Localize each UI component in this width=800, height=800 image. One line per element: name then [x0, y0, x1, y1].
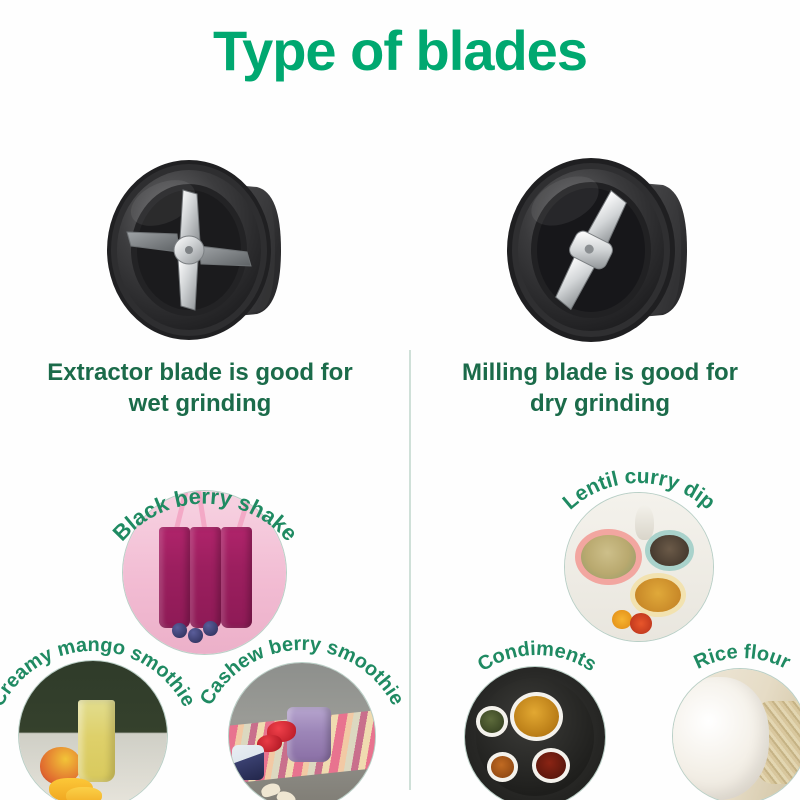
condiments-photo	[464, 666, 606, 800]
page-title: Type of blades	[0, 18, 800, 83]
milling-blade-image	[400, 150, 800, 350]
food-item-black-berry-shake[interactable]: Black berry shake	[122, 490, 287, 655]
food-item-condiments[interactable]: Condiments	[464, 666, 606, 800]
extractor-blade-image	[0, 150, 400, 350]
column-milling: Milling blade is good for dry grinding	[400, 140, 800, 440]
creamy-mango-smothie-photo	[18, 660, 168, 800]
rice-flour-photo	[672, 668, 800, 800]
food-item-rice-flour[interactable]: Rice flour	[672, 668, 800, 800]
milling-caption-line2: dry grinding	[530, 390, 670, 417]
column-extractor: Extractor blade is good for wet grinding	[0, 140, 400, 440]
milling-caption-line1: Milling blade is good for	[462, 359, 738, 386]
extractor-caption-line2: wet grinding	[129, 390, 272, 417]
food-item-creamy-mango-smothie[interactable]: Creamy mango smothie	[18, 660, 168, 800]
extractor-blade-4-prong-icon	[85, 153, 315, 348]
extractor-caption: Extractor blade is good for wet grinding	[0, 358, 400, 419]
extractor-caption-line1: Extractor blade is good for	[47, 359, 352, 386]
black-berry-shake-photo	[122, 490, 287, 655]
food-item-lentil-curry-dip[interactable]: Lentil curry dip	[564, 492, 714, 642]
infographic-page: Type of blades	[0, 0, 800, 800]
milling-blade-2-prong-icon	[485, 153, 715, 348]
milling-caption: Milling blade is good for dry grinding	[400, 358, 800, 419]
food-item-cashew-berry-smoothie[interactable]: Cashew berry smoothie	[228, 662, 376, 800]
cashew-berry-smoothie-photo	[228, 662, 376, 800]
lentil-curry-dip-photo	[564, 492, 714, 642]
